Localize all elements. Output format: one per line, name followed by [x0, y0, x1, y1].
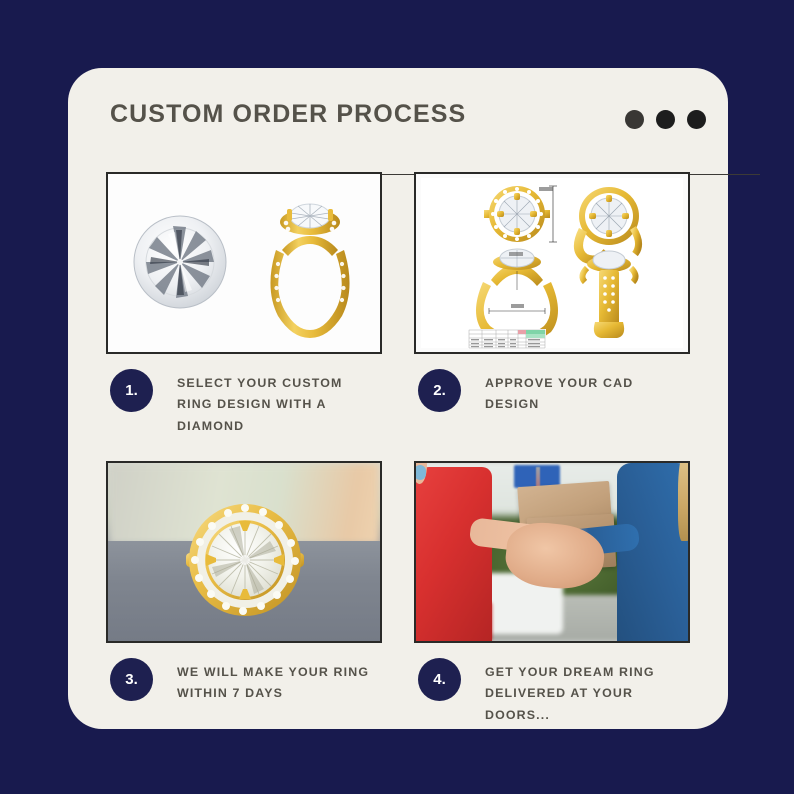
cad-dimension-vertical: [549, 186, 557, 242]
step-4-label: GET YOUR DREAM RING DELIVERED AT YOUR DO…: [485, 662, 690, 726]
step-3-label: WE WILL MAKE YOUR RING WITHIN 7 DAYS: [177, 662, 382, 705]
delivery-photo: [416, 463, 688, 641]
step-1-caption: 1. SELECT YOUR CUSTOM RING DESIGN WITH A…: [106, 369, 382, 437]
dot-3-icon[interactable]: [687, 110, 706, 129]
step-1-label: SELECT YOUR CUSTOM RING DESIGN WITH A DI…: [177, 373, 382, 437]
cad-spec-table: [468, 329, 546, 349]
step-4-number-badge: 4.: [418, 658, 461, 701]
cad-dimension-label-height: [509, 252, 523, 256]
gold-halo-ring-profile-icon: [258, 192, 362, 338]
cad-dimension-label-top: [539, 187, 553, 191]
step-4-caption: 4. GET YOUR DREAM RING DELIVERED AT YOUR…: [414, 658, 690, 726]
step-2-image-frame[interactable]: [414, 172, 690, 354]
cad-dimension-label-band: [511, 304, 524, 308]
step-2-caption: 2. APPROVE YOUR CAD DESIGN: [414, 369, 690, 431]
step-2-number-badge: 2.: [418, 369, 461, 412]
step-3-caption: 3. WE WILL MAKE YOUR RING WITHIN 7 DAYS: [106, 658, 382, 720]
step-4: 4. GET YOUR DREAM RING DELIVERED AT YOUR…: [414, 461, 690, 742]
gold-halo-ring-topview-icon: [184, 499, 306, 621]
card-header: CUSTOM ORDER PROCESS: [110, 96, 718, 158]
step-3: 3. WE WILL MAKE YOUR RING WITHIN 7 DAYS: [106, 461, 382, 742]
page-title: CUSTOM ORDER PROCESS: [110, 100, 466, 129]
cad-view-perspective: [578, 187, 639, 260]
step-2: 2. APPROVE YOUR CAD DESIGN: [414, 172, 690, 453]
courier-torso: [414, 467, 492, 641]
step-1-image-frame[interactable]: [106, 172, 382, 354]
customer-torso: [617, 463, 690, 641]
diamond-and-ring-illustration: [108, 174, 380, 352]
step-1-number-badge: 1.: [110, 369, 153, 412]
cad-view-front: [582, 251, 635, 338]
steps-grid: 1. SELECT YOUR CUSTOM RING DESIGN WITH A…: [106, 172, 690, 742]
step-1: 1. SELECT YOUR CUSTOM RING DESIGN WITH A…: [106, 172, 382, 453]
round-diamond-icon: [130, 212, 230, 312]
customer-hair: [678, 461, 690, 541]
cad-design-sheet: [416, 174, 688, 352]
cad-dimension-band: [489, 308, 545, 314]
step-2-label: APPROVE YOUR CAD DESIGN: [485, 373, 690, 416]
cad-drawing-views: [421, 178, 683, 348]
dot-1-icon[interactable]: [625, 110, 644, 129]
step-3-number-badge: 3.: [110, 658, 153, 701]
poster-canvas: CUSTOM ORDER PROCESS: [0, 0, 794, 794]
window-dots: [625, 110, 706, 129]
dot-2-icon[interactable]: [656, 110, 675, 129]
step-4-image-frame[interactable]: [414, 461, 690, 643]
content-card: CUSTOM ORDER PROCESS: [68, 68, 728, 729]
finished-ring-photo: [108, 463, 380, 641]
face-mask: [414, 465, 426, 481]
cad-white-pane: [421, 178, 683, 348]
cad-view-top: [484, 186, 550, 242]
step-3-image-frame[interactable]: [106, 461, 382, 643]
